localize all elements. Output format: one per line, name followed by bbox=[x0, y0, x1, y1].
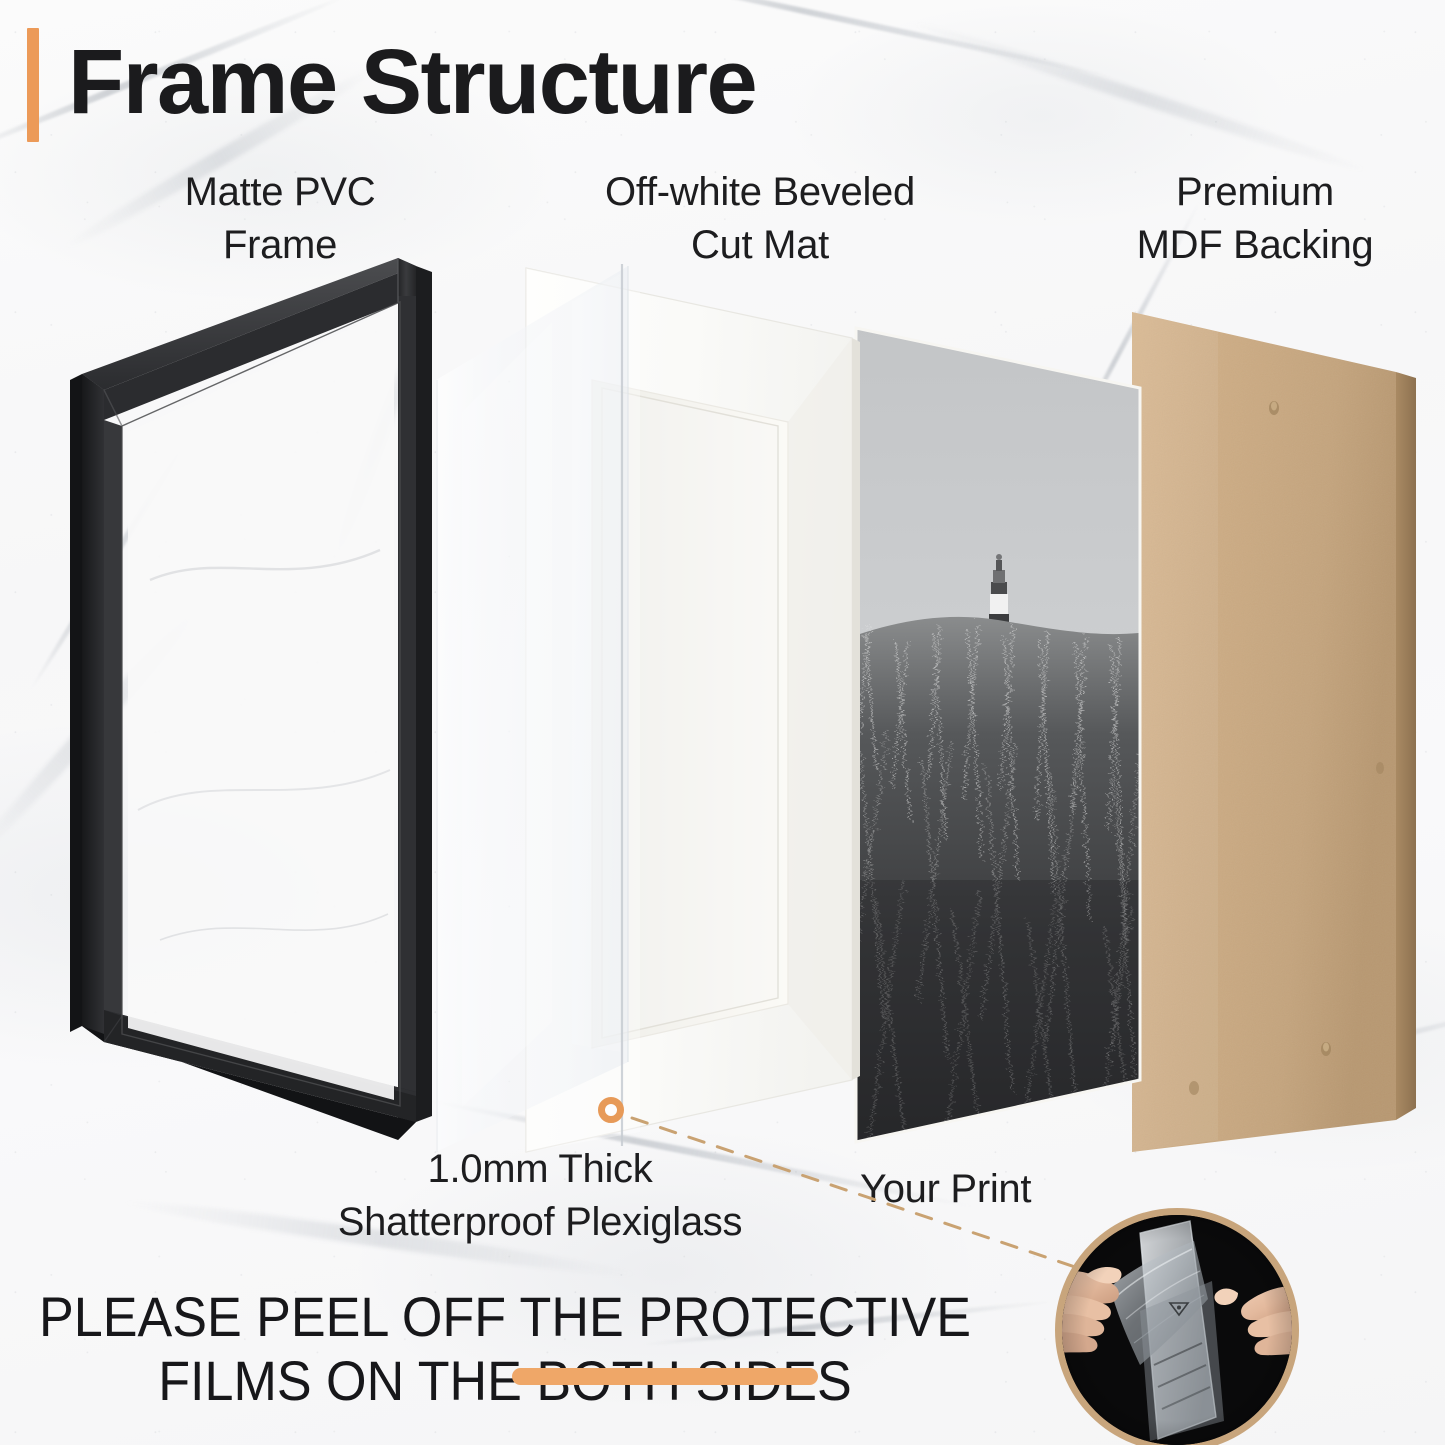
connector-dot-icon bbox=[598, 1097, 624, 1123]
peel-film-illustration bbox=[1062, 1215, 1292, 1445]
pvc-frame-shape bbox=[60, 250, 460, 1180]
infographic-canvas: Frame Structure bbox=[0, 0, 1445, 1445]
mdf-backing-shape bbox=[1128, 280, 1438, 1160]
title-accent-bar bbox=[27, 28, 39, 142]
peel-instruction-banner: PLEASE PEEL OFF THE PROTECTIVE FILMS ON … bbox=[0, 1285, 1010, 1413]
plexiglass-sheet-shape bbox=[432, 262, 642, 1162]
callout-beveled-cut-mat: Off-white Beveled Cut Mat bbox=[545, 166, 975, 272]
layer-mdf-backing bbox=[1128, 280, 1438, 1160]
banner-line-1: PLEASE PEEL OFF THE PROTECTIVE bbox=[35, 1285, 974, 1349]
print-photo-shape bbox=[848, 320, 1148, 1150]
banner-highlight-underline bbox=[512, 1368, 818, 1385]
callout-plexiglass: 1.0mm Thick Shatterproof Plexiglass bbox=[250, 1143, 830, 1249]
banner-line-2: FILMS ON THE BOTH SIDES bbox=[35, 1349, 974, 1413]
layer-plexiglass bbox=[432, 262, 632, 1152]
callout-mdf-backing: Premium MDF Backing bbox=[1070, 166, 1440, 272]
page-title: Frame Structure bbox=[68, 28, 756, 137]
peel-film-photo-inset bbox=[1055, 1208, 1299, 1445]
layer-print bbox=[848, 320, 1148, 1150]
callout-matte-pvc-frame: Matte PVC Frame bbox=[90, 166, 470, 272]
callout-your-print: Your Print bbox=[860, 1163, 1120, 1216]
layer-pvc-frame bbox=[60, 250, 440, 1170]
